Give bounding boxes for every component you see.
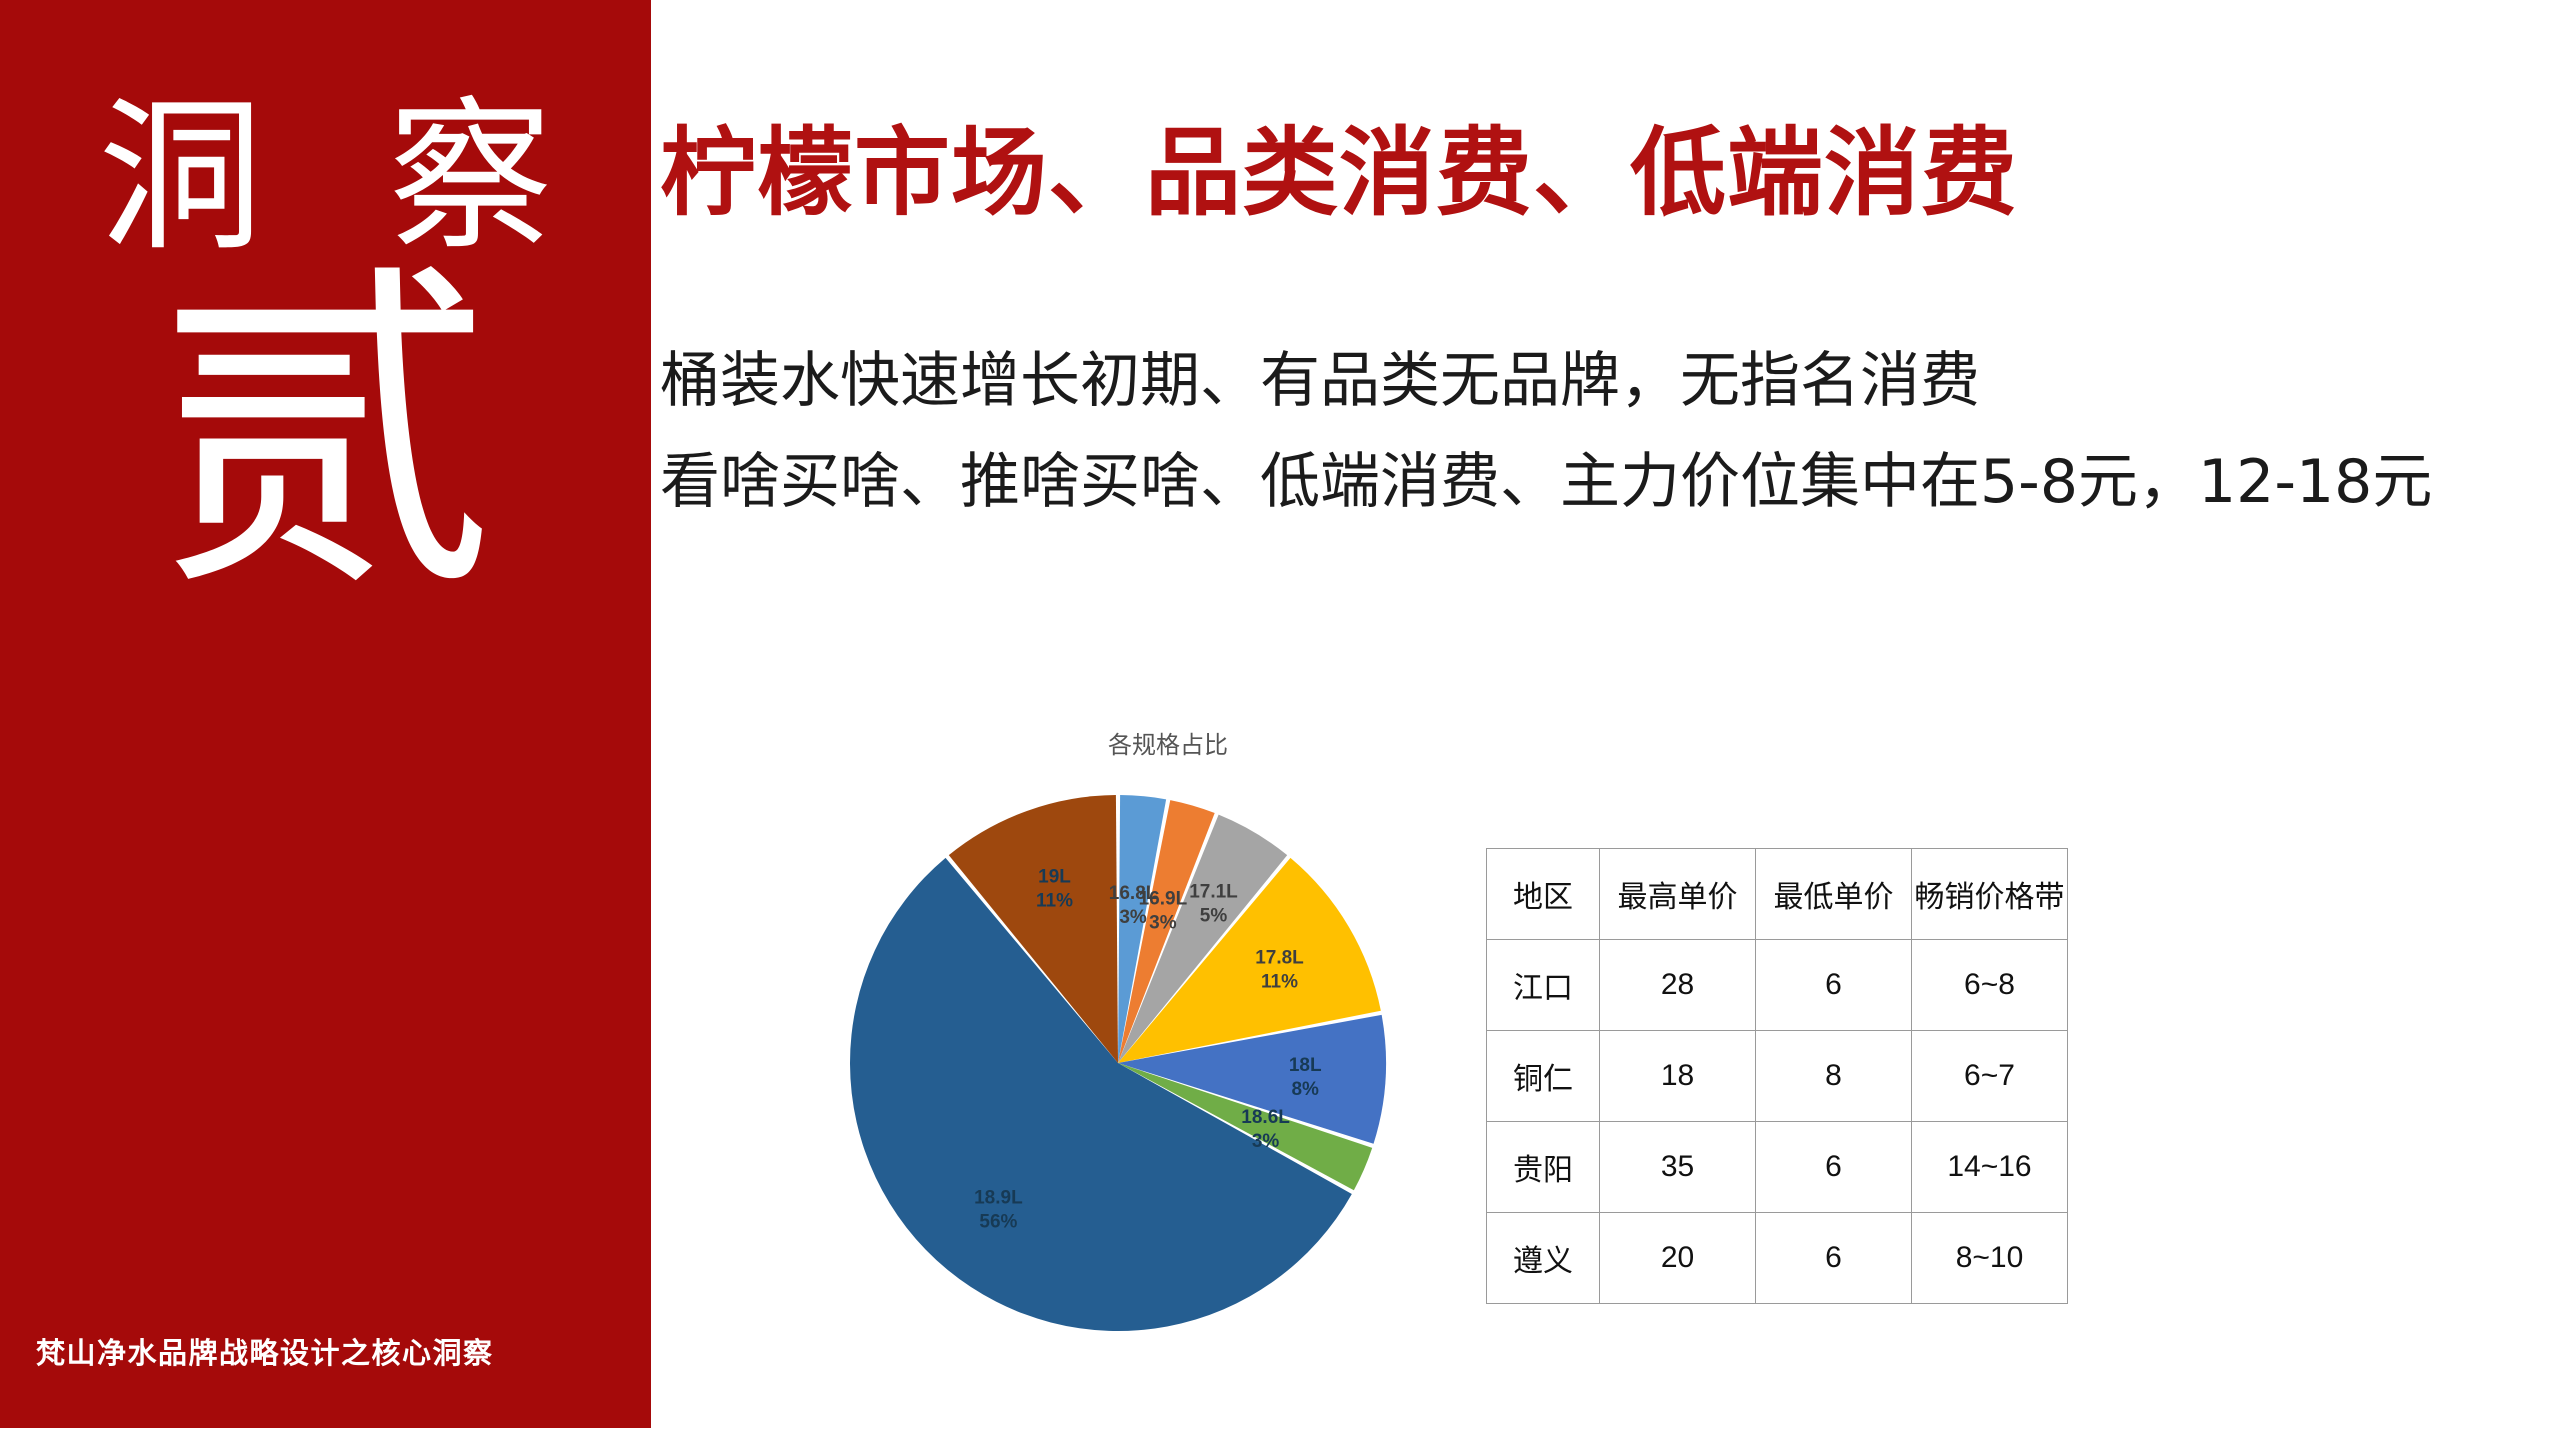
slice-label-name-17-1L: 17.1L <box>1189 882 1238 903</box>
body-copy: 桶装水快速增长初期、有品类无品牌，无指名消费 看啥买啥、推啥买啥、低端消费、主力… <box>660 340 2470 542</box>
col-price-band: 畅销价格带 <box>1912 849 2068 940</box>
region-cell: 江口 <box>1487 940 1600 1031</box>
table-row: 遵义2068~10 <box>1487 1213 2068 1304</box>
price-band-cell: 8~10 <box>1912 1213 2068 1304</box>
min-price-cell: 6 <box>1756 1122 1912 1213</box>
max-price-cell: 28 <box>1600 940 1756 1031</box>
pie-chart: 各规格占比 16.8L3%16.9L3%17.1L5%17.8L11%18L8%… <box>848 725 1488 1345</box>
body-line-1: 桶装水快速增长初期、有品类无品牌，无指名消费 <box>660 340 2470 423</box>
region-cell: 遵义 <box>1487 1213 1600 1304</box>
slice-label-pct-17-8L: 11% <box>1261 972 1298 993</box>
body-line-2: 看啥买啥、推啥买啥、低端消费、主力价位集中在5-8元，12-18元 <box>660 441 2470 524</box>
slice-label-name-18-9L: 18.9L <box>974 1188 1023 1209</box>
max-price-cell: 18 <box>1600 1031 1756 1122</box>
min-price-cell: 6 <box>1756 1213 1912 1304</box>
region-cell: 铜仁 <box>1487 1031 1600 1122</box>
pie-canvas: 16.8L3%16.9L3%17.1L5%17.8L11%18L8%18.6L3… <box>848 763 1488 1333</box>
region-cell: 贵阳 <box>1487 1122 1600 1213</box>
table-body: 江口2866~8铜仁1886~7贵阳35614~16遵义2068~10 <box>1487 940 2068 1304</box>
table-header-row: 地区 最高单价 最低单价 畅销价格带 <box>1487 849 2068 940</box>
price-band-cell: 6~7 <box>1912 1031 2068 1122</box>
price-table: 地区 最高单价 最低单价 畅销价格带 江口2866~8铜仁1886~7贵阳356… <box>1486 848 2068 1304</box>
slice-label-pct-17-1L: 5% <box>1200 906 1228 927</box>
page-title: 柠檬市场、品类消费、低端消费 <box>660 118 2530 228</box>
slice-label-pct-18-9L: 56% <box>979 1212 1017 1233</box>
slice-label-pct-19L: 11% <box>1036 891 1073 912</box>
table-row: 贵阳35614~16 <box>1487 1122 2068 1213</box>
sidebar-section-label: 洞 察 <box>0 95 651 260</box>
col-min-price: 最低单价 <box>1756 849 1912 940</box>
col-max-price: 最高单价 <box>1600 849 1756 940</box>
price-band-cell: 14~16 <box>1912 1122 2068 1213</box>
slice-label-name-18-6L: 18.6L <box>1241 1107 1290 1128</box>
bottom-white-strip <box>0 1428 2560 1440</box>
min-price-cell: 6 <box>1756 940 1912 1031</box>
sidebar-red-panel: 洞 察 贰 梵山净水品牌战略设计之核心洞察 <box>0 0 651 1428</box>
slice-label-pct-18L: 8% <box>1291 1079 1319 1100</box>
max-price-cell: 35 <box>1600 1122 1756 1213</box>
slice-label-name-18L: 18L <box>1289 1055 1322 1076</box>
slice-label-name-19L: 19L <box>1038 867 1071 888</box>
slide-root: 洞 察 贰 梵山净水品牌战略设计之核心洞察 柠檬市场、品类消费、低端消费 桶装水… <box>0 0 2560 1440</box>
chart-title: 各规格占比 <box>848 725 1488 760</box>
slice-label-name-17-8L: 17.8L <box>1255 948 1304 969</box>
slice-label-pct-18-6L: 3% <box>1252 1131 1280 1152</box>
pie-svg: 16.8L3%16.9L3%17.1L5%17.8L11%18L8%18.6L3… <box>848 763 1488 1333</box>
price-band-cell: 6~8 <box>1912 940 2068 1031</box>
min-price-cell: 8 <box>1756 1031 1912 1122</box>
max-price-cell: 20 <box>1600 1213 1756 1304</box>
table-head: 地区 最高单价 最低单价 畅销价格带 <box>1487 849 2068 940</box>
table-row: 江口2866~8 <box>1487 940 2068 1031</box>
footer-branding: 梵山净水品牌战略设计之核心洞察 <box>36 1330 494 1372</box>
slice-label-pct-16-9L: 3% <box>1149 913 1177 934</box>
table-row: 铜仁1886~7 <box>1487 1031 2068 1122</box>
slice-label-name-16-9L: 16.9L <box>1139 889 1188 910</box>
slice-label-pct-16-8L: 3% <box>1119 907 1147 928</box>
col-region: 地区 <box>1487 849 1600 940</box>
sidebar-section-number: 贰 <box>0 265 651 605</box>
